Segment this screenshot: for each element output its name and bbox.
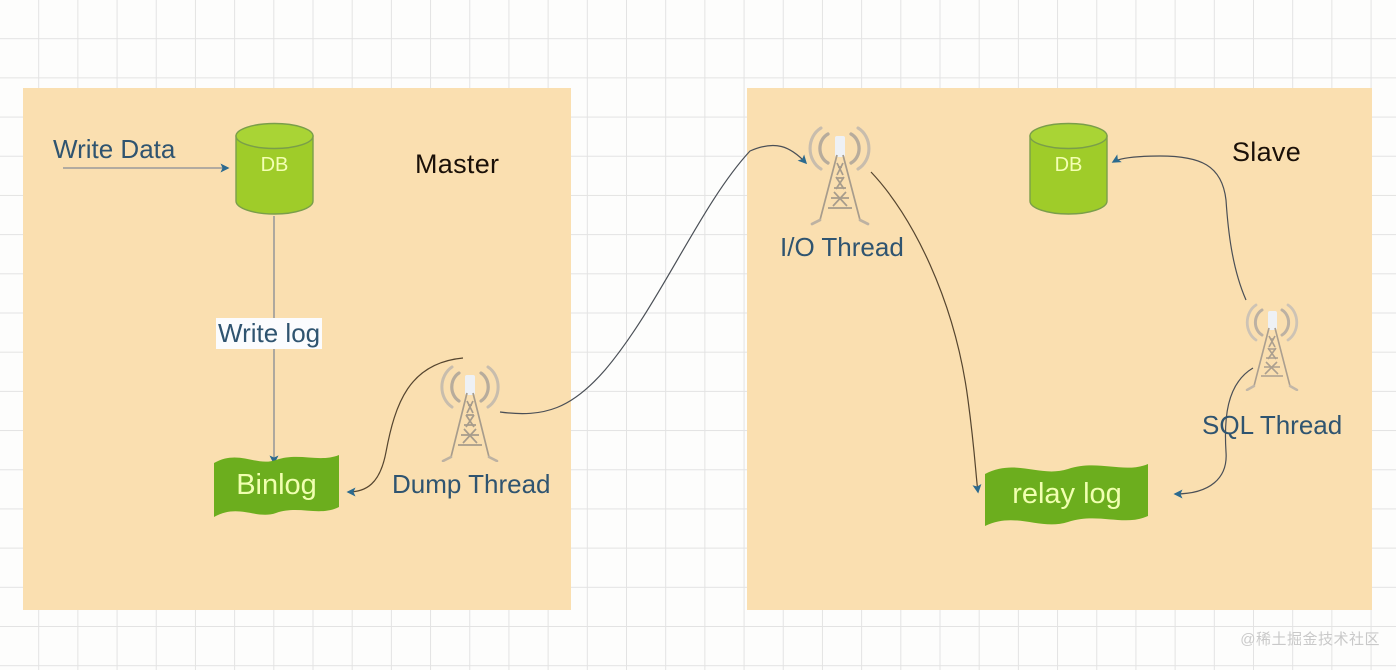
master-panel-title: Master [415,149,499,180]
sql-thread-label: SQL Thread [1202,410,1342,441]
io-thread-node[interactable] [797,118,882,226]
radio-tower-icon [797,118,882,226]
database-cylinder-icon [1028,122,1109,215]
write-log-label: Write log [216,318,322,349]
database-cylinder-icon [234,122,315,215]
flag-banner-icon [211,447,342,525]
radio-tower-icon [429,357,511,462]
diagram-canvas: DB DB Binlog relay log [0,0,1396,670]
sql-thread-node[interactable] [1235,296,1309,391]
dump-thread-label: Dump Thread [392,469,551,500]
master-db-node[interactable]: DB [234,122,315,215]
relay-log-node[interactable]: relay log [982,456,1152,534]
radio-tower-icon [1235,296,1309,391]
flag-banner-icon [982,456,1152,534]
write-data-label: Write Data [53,134,175,165]
watermark: @稀土掘金技术社区 [1240,628,1380,649]
slave-panel-title: Slave [1232,137,1301,168]
binlog-node[interactable]: Binlog [211,447,342,525]
slave-db-node[interactable]: DB [1028,122,1109,215]
io-thread-label: I/O Thread [780,232,904,263]
dump-thread-node[interactable] [429,357,511,462]
